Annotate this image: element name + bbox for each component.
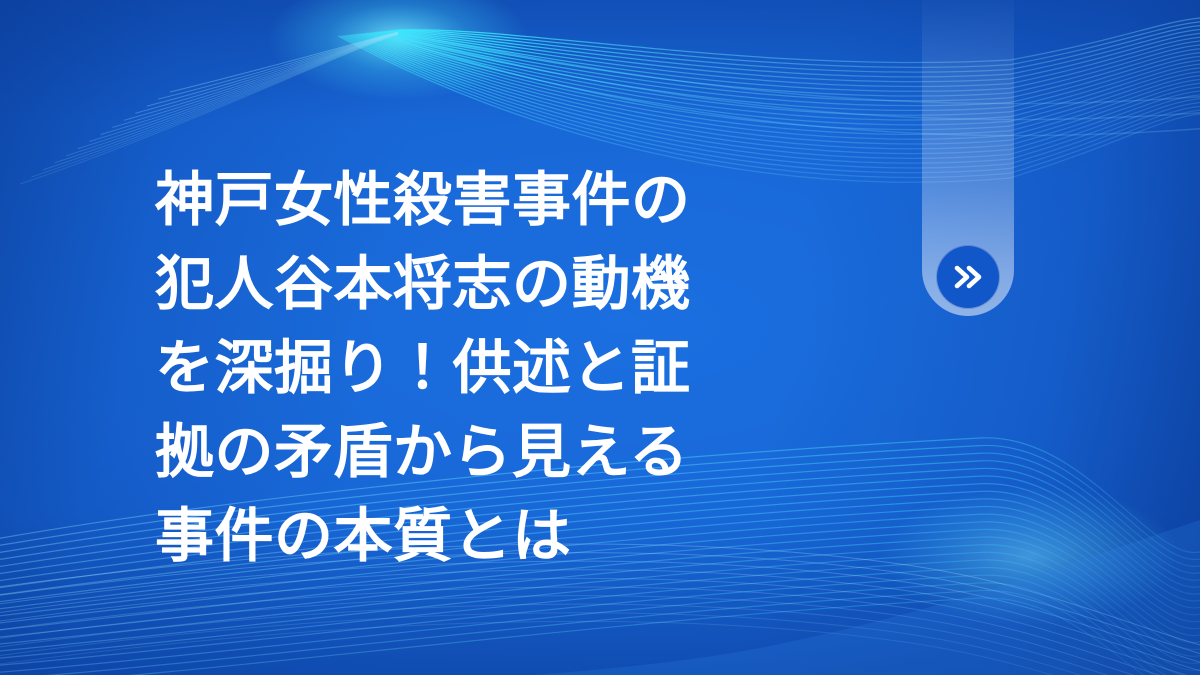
title-card: 神戸女性殺害事件の 犯人谷本将志の動機 を深掘り！供述と証 拠の矛盾から見える … xyxy=(0,0,1200,675)
double-chevron-right-icon-button[interactable] xyxy=(937,246,999,308)
double-chevron-right-icon xyxy=(951,262,985,292)
page-title: 神戸女性殺害事件の 犯人谷本将志の動機 を深掘り！供述と証 拠の矛盾から見える … xyxy=(155,158,835,578)
